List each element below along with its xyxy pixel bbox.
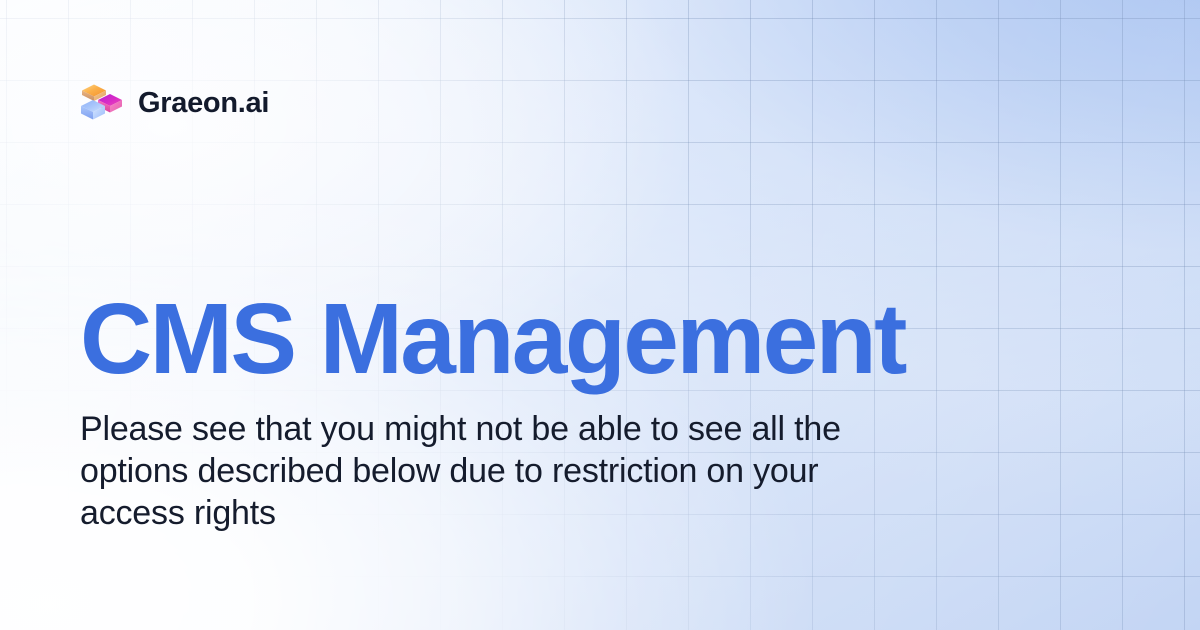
page-subtitle: Please see that you might not be able to… [80, 408, 850, 534]
hero-text-block: CMS Management Please see that you might… [80, 288, 960, 534]
brand-name: Graeon.ai [138, 89, 269, 118]
three-isometric-cubes-logo-icon [80, 81, 124, 125]
brand-lockup[interactable]: Graeon.ai [80, 80, 269, 126]
page-title: CMS Management [80, 288, 960, 390]
og-card: Graeon.ai CMS Management Please see that… [0, 0, 1200, 630]
card-content: Graeon.ai CMS Management Please see that… [0, 0, 1200, 630]
